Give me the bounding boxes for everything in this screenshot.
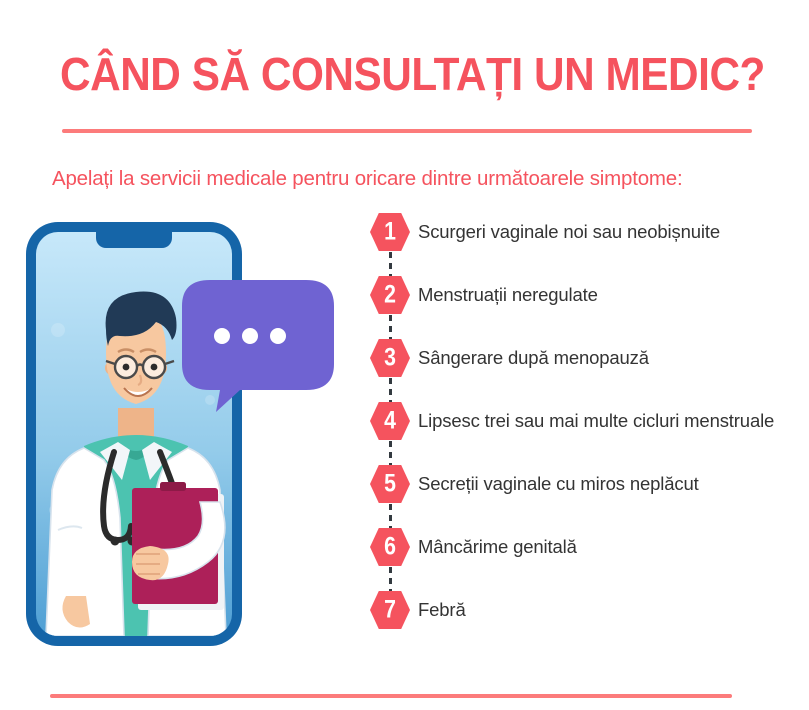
list-item: 1 Scurgeri vaginale noi sau neobișnuite — [370, 212, 720, 252]
page-subtitle: Apelați la servicii medicale pentru oric… — [52, 167, 800, 191]
step-badge: 2 — [370, 276, 410, 314]
step-number: 7 — [373, 591, 407, 629]
bubble-dot-2 — [242, 328, 258, 344]
symptom-label: Lipsesc trei sau mai multe cicluri menst… — [418, 410, 774, 432]
bubble-dot-1 — [214, 328, 230, 344]
connector-2-3 — [389, 315, 392, 340]
connector-3-4 — [389, 378, 392, 403]
step-badge: 1 — [370, 213, 410, 251]
list-item: 2 Menstruații neregulate — [370, 275, 598, 315]
symptom-label: Scurgeri vaginale noi sau neobișnuite — [418, 221, 720, 243]
list-item: 7 Febră — [370, 590, 466, 630]
step-badge: 4 — [370, 402, 410, 440]
list-item: 5 Secreții vaginale cu miros neplăcut — [370, 464, 699, 504]
step-number: 4 — [373, 402, 407, 440]
step-number: 5 — [373, 465, 407, 503]
phone-notch — [96, 232, 172, 248]
step-badge: 3 — [370, 339, 410, 377]
connector-1-2 — [389, 252, 392, 277]
step-number: 1 — [373, 213, 407, 251]
infographic-root: CÂND SĂ CONSULTAȚI UN MEDIC? Apelați la … — [0, 0, 809, 710]
symptom-list: 1 Scurgeri vaginale noi sau neobișnuite … — [370, 212, 800, 652]
divider-top — [62, 129, 752, 133]
connector-5-6 — [389, 504, 392, 529]
step-badge: 7 — [370, 591, 410, 629]
divider-bottom — [50, 694, 732, 698]
telemedicine-illustration — [14, 210, 354, 660]
connector-6-7 — [389, 567, 392, 592]
bubble-dot-3 — [270, 328, 286, 344]
step-number: 3 — [373, 339, 407, 377]
step-badge: 6 — [370, 528, 410, 566]
list-item: 3 Sângerare după menopauză — [370, 338, 649, 378]
list-item: 6 Mâncărime genitală — [370, 527, 577, 567]
step-badge: 5 — [370, 465, 410, 503]
symptom-label: Mâncărime genitală — [418, 536, 577, 558]
symptom-label: Secreții vaginale cu miros neplăcut — [418, 473, 699, 495]
connector-4-5 — [389, 441, 392, 466]
symptom-label: Febră — [418, 599, 466, 621]
step-number: 2 — [373, 276, 407, 314]
symptom-label: Menstruații neregulate — [418, 284, 598, 306]
symptom-label: Sângerare după menopauză — [418, 347, 649, 369]
page-title: CÂND SĂ CONSULTAȚI UN MEDIC? — [60, 48, 704, 100]
step-number: 6 — [373, 528, 407, 566]
list-item: 4 Lipsesc trei sau mai multe cicluri men… — [370, 401, 774, 441]
